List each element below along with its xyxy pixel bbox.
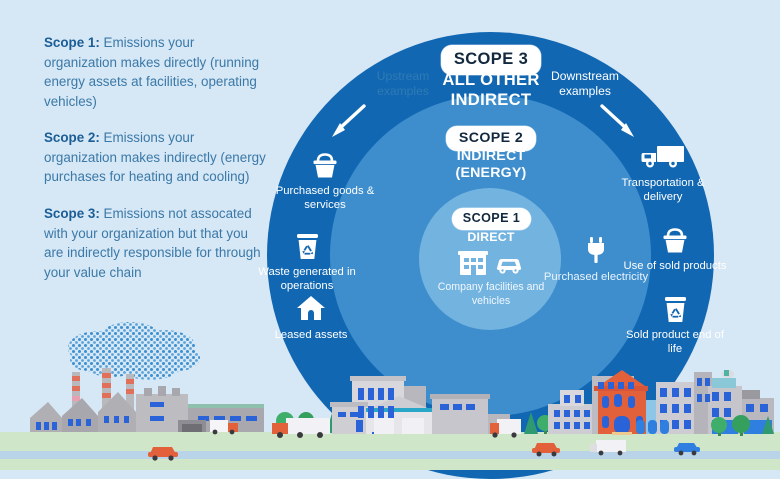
example-label: Purchased electricity xyxy=(543,270,649,284)
scope-1-heading: DIRECT xyxy=(441,230,541,245)
recycle-bin-icon xyxy=(254,231,360,261)
example-transportation-delivery: Transportation & delivery xyxy=(610,142,716,205)
shopping-basket-icon xyxy=(272,150,378,180)
road xyxy=(0,451,780,459)
scope-2-definition: Scope 2: Emissions your organization mak… xyxy=(44,128,266,187)
scope-1-caption: Company facilities and vehicles xyxy=(425,281,557,309)
delivery-truck-icon xyxy=(610,142,716,172)
arrow-down-left-icon xyxy=(326,103,368,141)
example-label: Transportation & delivery xyxy=(610,176,716,205)
scope-1-badge: SCOPE 1 xyxy=(452,208,531,230)
scope-2-term: Scope 2: xyxy=(44,130,100,145)
scope-2-heading: INDIRECT (ENERGY) xyxy=(421,148,561,182)
car-icon xyxy=(497,259,521,274)
example-purchased-electricity: Purchased electricity xyxy=(543,236,649,284)
smoke-cloud xyxy=(68,322,200,380)
upstream-examples-label: Upstream examples xyxy=(358,69,448,100)
example-label: Waste generated in operations xyxy=(254,265,360,294)
distribution-warehouse xyxy=(272,376,521,438)
scope-definitions: Scope 1: Emissions your organization mak… xyxy=(44,33,266,299)
city-and-factory-illustration xyxy=(0,320,780,470)
example-label: Purchased goods & services xyxy=(272,184,378,213)
example-purchased-goods: Purchased goods & services xyxy=(272,150,378,213)
office-building-and-car-icons xyxy=(456,249,526,275)
power-plug-icon xyxy=(543,236,649,266)
scope-1-definition: Scope 1: Emissions your organization mak… xyxy=(44,33,266,111)
scope-3-term: Scope 3: xyxy=(44,206,100,221)
diagram-canvas: Scope 1: Emissions your organization mak… xyxy=(0,0,780,470)
scope-1-term: Scope 1: xyxy=(44,35,100,50)
scope-1-icon-group xyxy=(450,249,532,280)
arrow-down-right-icon xyxy=(598,103,640,141)
downstream-examples-label: Downstream examples xyxy=(538,69,632,100)
example-waste-generated: Waste generated in operations xyxy=(254,231,360,294)
scope-3-definition: Scope 3: Emissions not assocated with yo… xyxy=(44,204,266,282)
